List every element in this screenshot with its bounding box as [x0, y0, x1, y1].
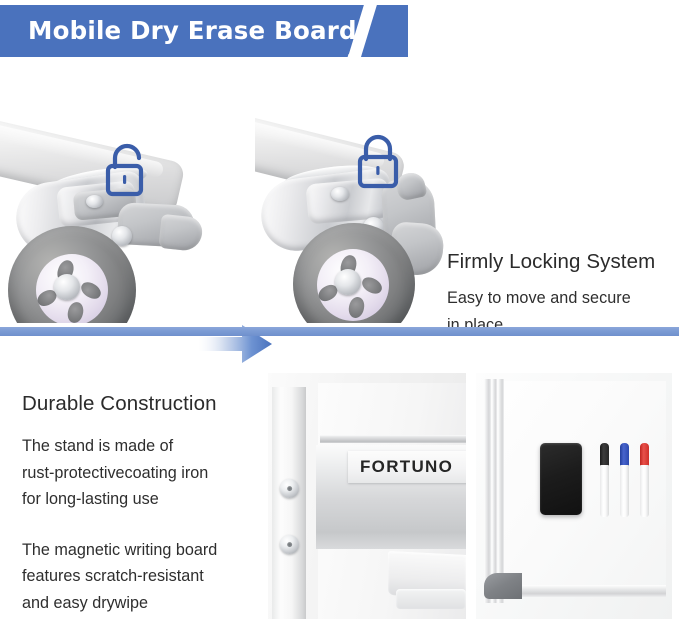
- whiteboard-photo: [476, 373, 672, 619]
- post-bolt-lower: [280, 535, 299, 554]
- post-bolt-upper: [280, 479, 299, 498]
- locking-system-section: Firmly Locking System Easy to move and s…: [0, 100, 679, 328]
- durable-p1-line-2: rust-protectivecoating iron: [22, 460, 267, 487]
- caster-photo-locked: [255, 105, 455, 323]
- marker-barrel: [640, 465, 649, 517]
- magnetic-eraser: [540, 443, 582, 515]
- page-title: Mobile Dry Erase Board: [28, 16, 357, 45]
- durable-p2-line-3: and easy drywipe: [22, 590, 267, 617]
- durable-construction-section: Durable Construction The stand is made o…: [0, 345, 679, 619]
- durable-paragraph-2: The magnetic writing board features scra…: [22, 537, 267, 617]
- marker-barrel: [600, 465, 609, 517]
- frame-rail-left-inner: [498, 379, 504, 603]
- brake-pivot-bolt: [331, 187, 349, 201]
- brand-name: FORTUNO: [360, 457, 453, 477]
- durable-p2-line-1: The magnetic writing board: [22, 537, 267, 564]
- upper-rail: [320, 435, 466, 443]
- stand-frame-photo: FORTUNO: [268, 373, 466, 619]
- frame-rail-left-outer: [484, 379, 491, 603]
- durable-p1-line-3: for long-lasting use: [22, 486, 267, 513]
- header-banner: Mobile Dry Erase Board: [0, 5, 408, 57]
- marker-cap-blue: [620, 443, 629, 467]
- brake-pedal-tip: [158, 214, 203, 252]
- brand-badge: FORTUNO: [348, 451, 466, 483]
- durable-p2-line-2: features scratch-resistant: [22, 563, 267, 590]
- diagonal-slash-tail-icon: [345, 54, 361, 64]
- section-divider: [0, 327, 679, 336]
- frame-rail-bottom: [504, 585, 666, 597]
- durable-p1-line-1: The stand is made of: [22, 433, 267, 460]
- marker-cap-black: [600, 443, 609, 467]
- unlocked-padlock-icon: [103, 142, 149, 205]
- marker-barrel: [620, 465, 629, 517]
- locking-body-line-1: Easy to move and secure: [447, 285, 679, 312]
- durable-construction-heading: Durable Construction: [22, 392, 267, 416]
- wheel-axle-cap: [335, 269, 361, 295]
- accessory-tray-lip: [396, 589, 466, 609]
- locked-padlock-icon: [355, 133, 401, 196]
- frame-rail-left-mid: [492, 379, 497, 603]
- frame-corner-piece: [484, 573, 522, 599]
- wheel-axle-cap: [54, 274, 80, 300]
- brake-pivot-bolt: [86, 195, 103, 208]
- locking-system-heading: Firmly Locking System: [447, 250, 679, 274]
- marker-cap-red: [640, 443, 649, 467]
- durable-paragraph-1: The stand is made of rust-protectivecoat…: [22, 433, 267, 513]
- caster-photo-unlocked: [0, 108, 228, 323]
- durable-construction-text: Durable Construction The stand is made o…: [22, 392, 267, 616]
- locking-system-text: Firmly Locking System Easy to move and s…: [447, 250, 679, 339]
- frame-post: [272, 387, 306, 619]
